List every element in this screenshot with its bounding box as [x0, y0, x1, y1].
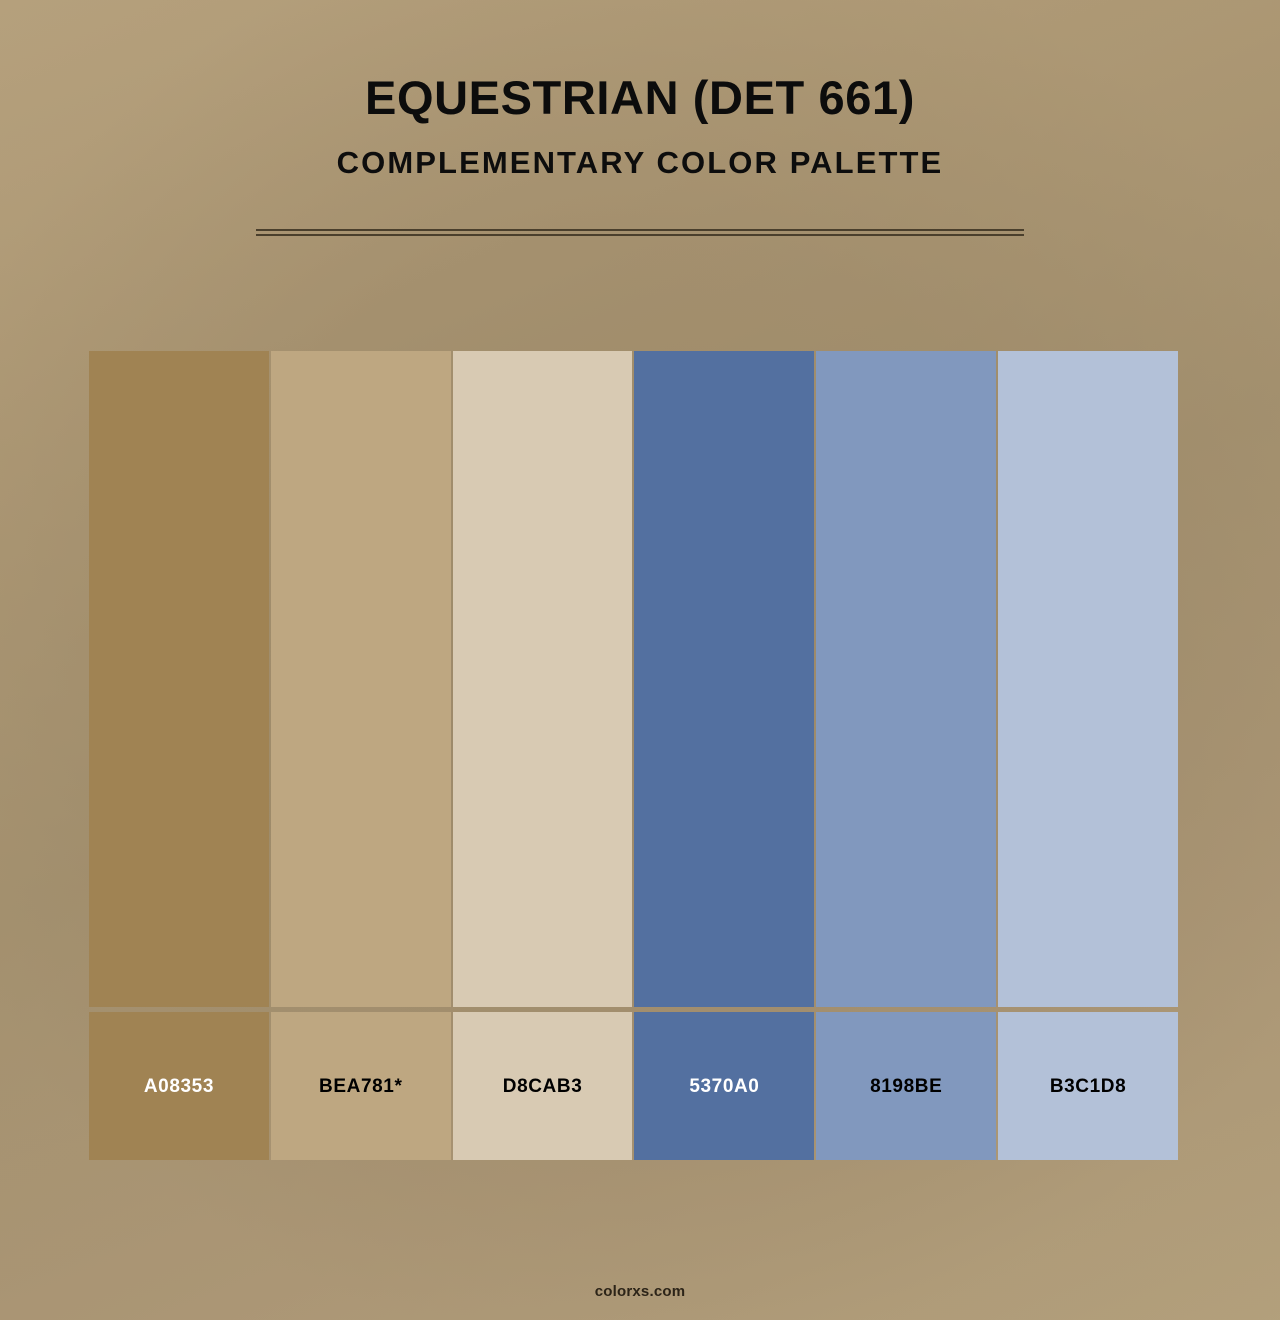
swatch-column-5[interactable]: 8198BE [816, 351, 996, 1160]
swatch-column-6[interactable]: B3C1D8 [998, 351, 1178, 1160]
swatch-label-block-2[interactable]: BEA781* [271, 1012, 451, 1160]
swatch-hex-label-2: BEA781* [319, 1077, 402, 1096]
swatch-column-2[interactable]: BEA781* [271, 351, 451, 1160]
palette-swatch-grid: A08353 BEA781* D8CAB3 5370A0 8198BE [89, 351, 1178, 1160]
swatch-label-block-1[interactable]: A08353 [89, 1012, 269, 1160]
palette-footer: colorxs.com [0, 1283, 1280, 1301]
swatch-label-block-4[interactable]: 5370A0 [634, 1012, 814, 1160]
swatch-hex-label-4: 5370A0 [689, 1077, 759, 1096]
swatch-column-3[interactable]: D8CAB3 [453, 351, 633, 1160]
swatch-label-block-6[interactable]: B3C1D8 [998, 1012, 1178, 1160]
swatch-column-4[interactable]: 5370A0 [634, 351, 814, 1160]
page-title: EQUESTRIAN (DET 661) [0, 0, 1280, 121]
header-divider [256, 229, 1024, 235]
swatch-color-block-6[interactable] [998, 351, 1178, 1007]
swatch-hex-label-3: D8CAB3 [503, 1077, 583, 1096]
swatch-color-block-3[interactable] [453, 351, 633, 1007]
swatch-label-block-5[interactable]: 8198BE [816, 1012, 996, 1160]
swatch-label-block-3[interactable]: D8CAB3 [453, 1012, 633, 1160]
site-credit: colorxs.com [595, 1283, 686, 1300]
swatch-color-block-2[interactable] [271, 351, 451, 1007]
swatch-color-block-1[interactable] [89, 351, 269, 1007]
swatch-hex-label-6: B3C1D8 [1050, 1077, 1126, 1096]
swatch-color-block-5[interactable] [816, 351, 996, 1007]
divider-line-top [256, 229, 1024, 231]
swatch-hex-label-1: A08353 [144, 1077, 214, 1096]
palette-header: EQUESTRIAN (DET 661) COMPLEMENTARY COLOR… [0, 0, 1280, 178]
color-palette-page: EQUESTRIAN (DET 661) COMPLEMENTARY COLOR… [0, 0, 1280, 1320]
divider-line-bottom [256, 234, 1024, 236]
swatch-color-block-4[interactable] [634, 351, 814, 1007]
swatch-column-1[interactable]: A08353 [89, 351, 269, 1160]
swatch-hex-label-5: 8198BE [870, 1077, 942, 1096]
page-subtitle: COMPLEMENTARY COLOR PALETTE [0, 121, 1280, 178]
